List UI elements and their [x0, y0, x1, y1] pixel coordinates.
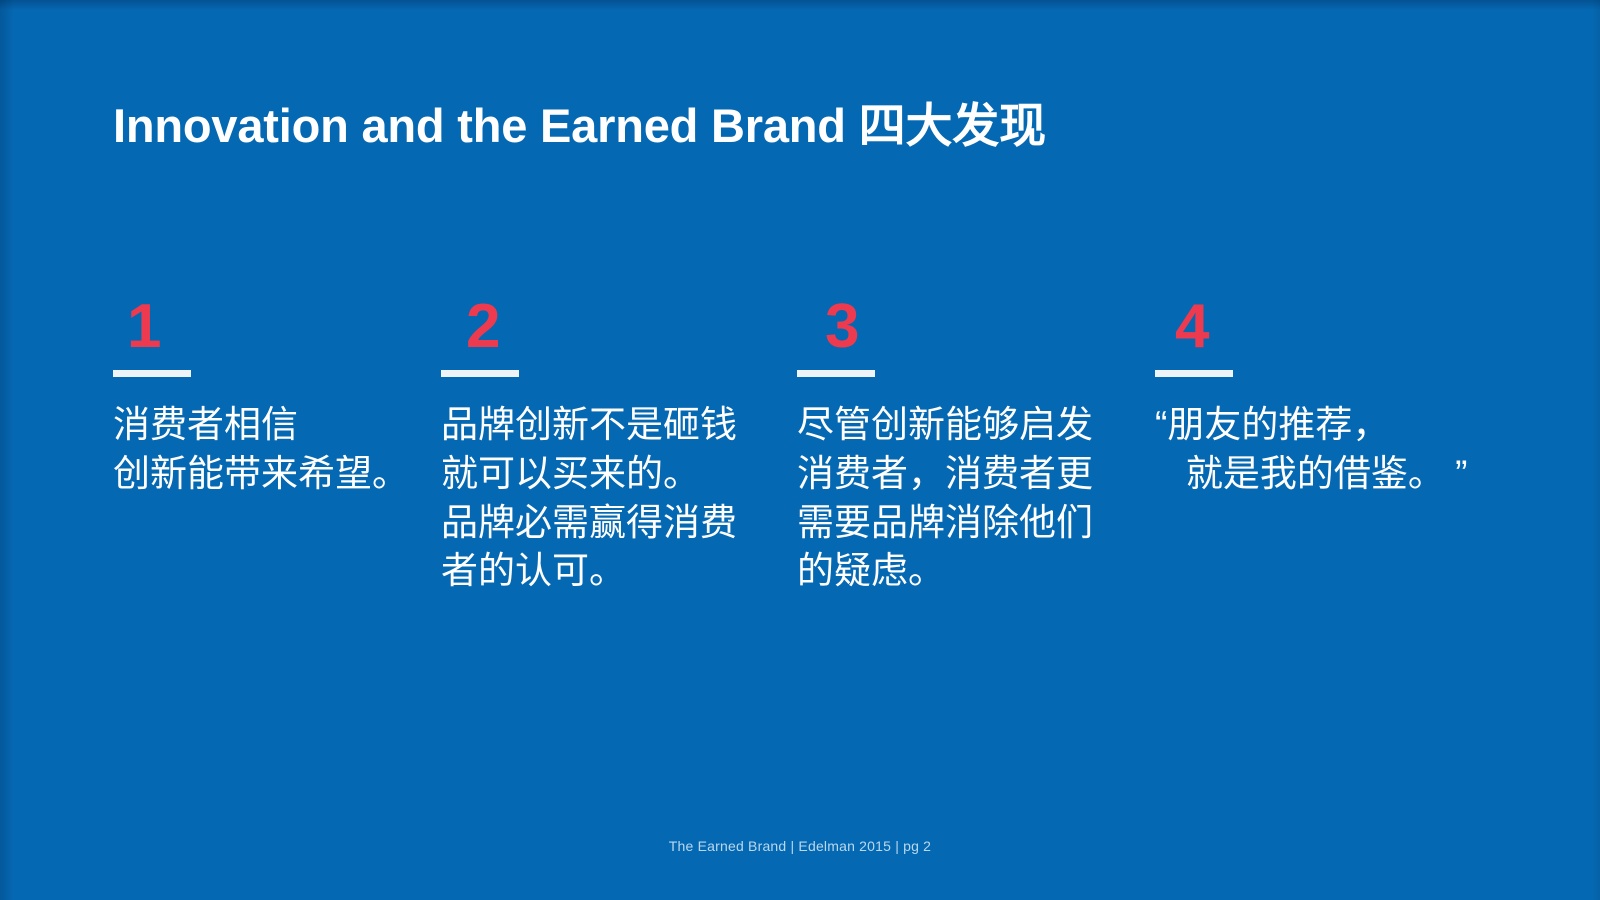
finding-divider-3: [797, 370, 875, 377]
finding-number-1: 1: [127, 296, 433, 362]
slide-canvas: Innovation and the Earned Brand 四大发现 1 消…: [0, 0, 1600, 900]
finding-number-2: 2: [466, 296, 771, 362]
finding-body-3: 尽管创新能够启发 消费者，消费者更 需要品牌消除他们 的疑虑。: [797, 401, 1127, 596]
findings-columns: 1 消费者相信 创新能带来希望。 2 品牌创新不是砸钱 就可以买来的。 品牌必需…: [0, 296, 1600, 626]
finding-number-3: 3: [825, 296, 1127, 362]
page-title: Innovation and the Earned Brand 四大发现: [113, 98, 1046, 153]
finding-body-4: “朋友的推荐， 就是我的借鉴。 ”: [1155, 401, 1555, 499]
finding-column-2: 2 品牌创新不是砸钱 就可以买来的。 品牌必需赢得消费 者的认可。: [441, 296, 771, 596]
finding-number-4: 4: [1175, 296, 1555, 362]
finding-divider-4: [1155, 370, 1233, 377]
finding-body-2: 品牌创新不是砸钱 就可以买来的。 品牌必需赢得消费 者的认可。: [441, 401, 771, 596]
finding-column-3: 3 尽管创新能够启发 消费者，消费者更 需要品牌消除他们 的疑虑。: [797, 296, 1127, 596]
finding-column-1: 1 消费者相信 创新能带来希望。: [113, 296, 433, 499]
finding-divider-2: [441, 370, 519, 377]
finding-column-4: 4 “朋友的推荐， 就是我的借鉴。 ”: [1155, 296, 1555, 499]
finding-body-1: 消费者相信 创新能带来希望。: [113, 401, 433, 499]
finding-divider-1: [113, 370, 191, 377]
slide-footer: The Earned Brand | Edelman 2015 | pg 2: [0, 838, 1600, 854]
